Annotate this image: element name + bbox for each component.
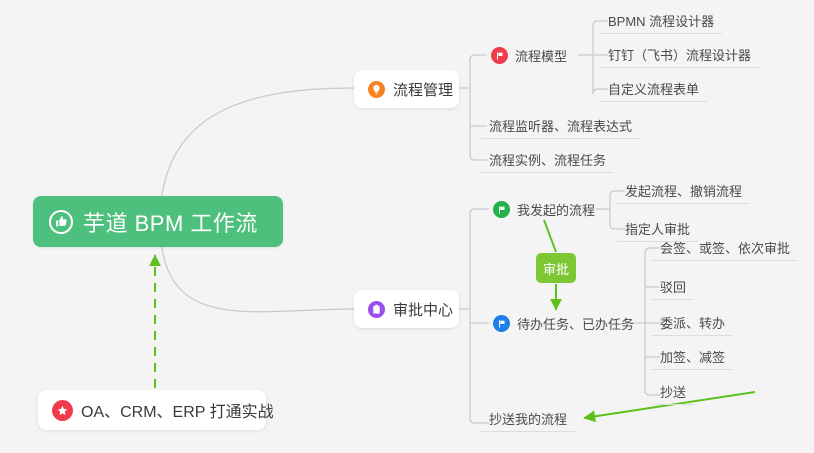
- flag-red-icon: [491, 47, 508, 64]
- node-todo-done-tasks-label: 待办任务、已办任务: [517, 314, 634, 333]
- leaf-delegate-transfer[interactable]: 委派、转办: [652, 310, 733, 336]
- node-my-initiated[interactable]: 我发起的流程: [493, 196, 599, 223]
- branch-process-management[interactable]: 流程管理: [354, 70, 459, 108]
- flag-blue-icon: [493, 315, 510, 332]
- node-my-initiated-label: 我发起的流程: [517, 200, 595, 219]
- leaf-process-listener-label: 流程监听器、流程表达式: [489, 116, 632, 135]
- leaf-countersign[interactable]: 会签、或签、依次审批: [652, 235, 798, 261]
- star-icon: [52, 400, 73, 421]
- clipboard-icon: [368, 301, 385, 318]
- leaf-reject[interactable]: 驳回: [652, 274, 694, 300]
- leaf-custom-form[interactable]: 自定义流程表单: [600, 76, 707, 102]
- leaf-dingtalk-designer-label: 钉钉（飞书）流程设计器: [608, 45, 751, 64]
- leaf-cc-my-process[interactable]: 抄送我的流程: [481, 406, 575, 432]
- leaf-start-cancel-process[interactable]: 发起流程、撤销流程: [617, 178, 750, 204]
- branch-approval-center[interactable]: 审批中心: [354, 290, 459, 328]
- approval-badge-label: 审批: [543, 259, 569, 278]
- leaf-reject-label: 驳回: [660, 277, 686, 296]
- mindmap-canvas: 芋道 BPM 工作流 流程管理 流程模型 BPMN 流程设计器 钉钉（飞书）流程…: [0, 0, 814, 453]
- leaf-bpmn-designer[interactable]: BPMN 流程设计器: [600, 8, 722, 34]
- leaf-process-listener[interactable]: 流程监听器、流程表达式: [481, 113, 640, 139]
- leaf-cc-label: 抄送: [660, 382, 686, 401]
- thumbs-up-icon: [49, 210, 73, 234]
- leaf-dingtalk-designer[interactable]: 钉钉（飞书）流程设计器: [600, 42, 759, 68]
- leaf-cc[interactable]: 抄送: [652, 379, 694, 405]
- node-todo-done-tasks[interactable]: 待办任务、已办任务: [493, 310, 638, 337]
- branch-process-management-label: 流程管理: [393, 79, 453, 100]
- lightbulb-icon: [368, 81, 385, 98]
- leaf-start-cancel-process-label: 发起流程、撤销流程: [625, 181, 742, 200]
- leaf-cc-my-process-label: 抄送我的流程: [489, 409, 567, 428]
- leaf-process-instance[interactable]: 流程实例、流程任务: [481, 147, 614, 173]
- approval-badge: 审批: [536, 253, 576, 283]
- node-process-model[interactable]: 流程模型: [491, 42, 571, 69]
- flag-green-icon: [493, 201, 510, 218]
- leaf-process-instance-label: 流程实例、流程任务: [489, 150, 606, 169]
- root-node[interactable]: 芋道 BPM 工作流: [33, 196, 283, 247]
- leaf-add-remove-sign[interactable]: 加签、减签: [652, 344, 733, 370]
- root-label: 芋道 BPM 工作流: [83, 206, 258, 238]
- branch-approval-center-label: 审批中心: [393, 299, 453, 320]
- leaf-countersign-label: 会签、或签、依次审批: [660, 238, 790, 257]
- approval-arrow-upper: [544, 220, 556, 252]
- integration-card-label: OA、CRM、ERP 打通实战: [81, 398, 274, 422]
- leaf-custom-form-label: 自定义流程表单: [608, 79, 699, 98]
- leaf-delegate-transfer-label: 委派、转办: [660, 313, 725, 332]
- leaf-bpmn-designer-label: BPMN 流程设计器: [608, 11, 714, 30]
- leaf-add-remove-sign-label: 加签、减签: [660, 347, 725, 366]
- integration-card[interactable]: OA、CRM、ERP 打通实战: [38, 390, 266, 430]
- node-process-model-label: 流程模型: [515, 46, 567, 65]
